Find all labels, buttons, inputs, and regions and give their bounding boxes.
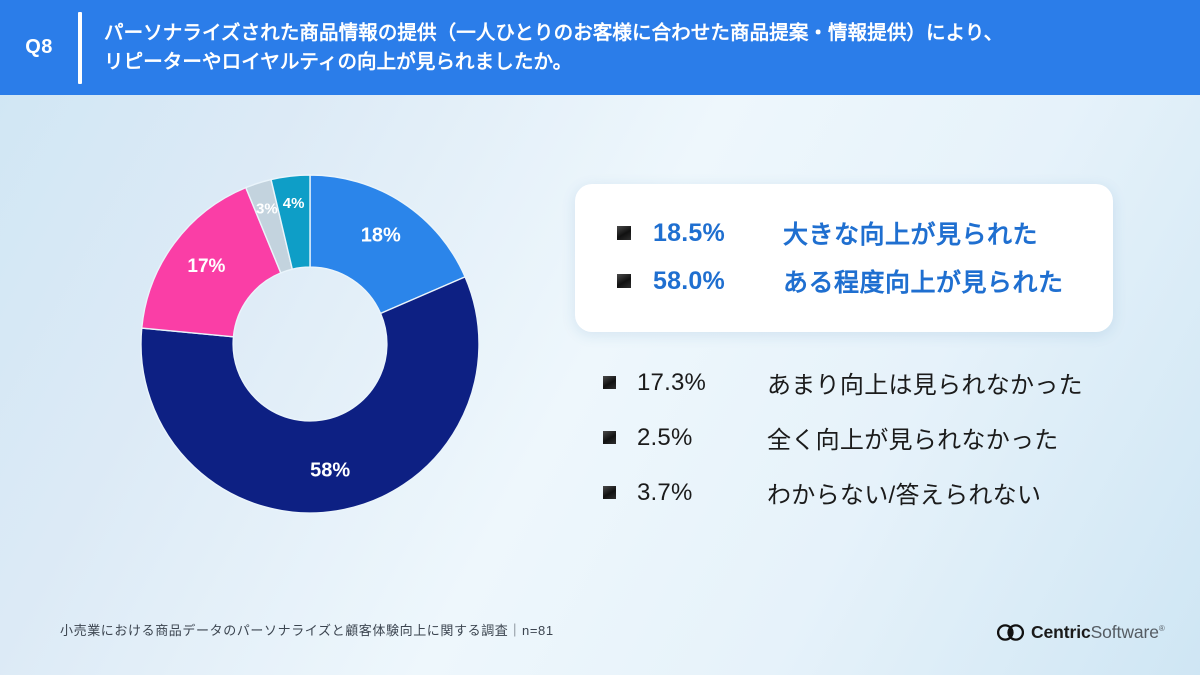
- legend-percent: 2.5%: [637, 424, 767, 452]
- square-bullet-icon: [603, 431, 616, 444]
- centric-software-logo: CentricSoftware®: [997, 622, 1165, 643]
- question-header-bar: Q8 パーソナライズされた商品情報の提供（一人ひとりのお客様に合わせた商品提案・…: [0, 0, 1200, 95]
- legend-secondary-list: 17.3% あまり向上は見られなかった 2.5% 全く向上が見られなかった 3.…: [603, 355, 1143, 520]
- square-bullet-icon: [617, 274, 631, 288]
- square-bullet-icon: [603, 376, 616, 389]
- legend-label: 全く向上が見られなかった: [767, 420, 1059, 455]
- centric-infinity-icon: [997, 624, 1024, 641]
- legend-item-no-improvement[interactable]: 2.5% 全く向上が見られなかった: [603, 410, 1143, 465]
- page-title: パーソナライズされた商品情報の提供（一人ひとりのお客様に合わせた商品提案・情報提…: [104, 19, 1033, 76]
- legend-label: わからない/答えられない: [767, 475, 1041, 510]
- legend-percent: 17.3%: [637, 369, 767, 397]
- legend-percent: 3.7%: [637, 479, 767, 507]
- legend-highlight-card: 18.5% 大きな向上が見られた 58.0% ある程度向上が見られた: [575, 184, 1113, 332]
- source-note: 小売業における商品データのパーソナライズと顧客体験向上に関する調査｜n=81: [60, 620, 554, 639]
- header-divider: [78, 12, 82, 84]
- donut-slice-label: 17%: [187, 256, 225, 277]
- logo-wordmark: CentricSoftware®: [1031, 622, 1165, 643]
- legend-item-some-improvement[interactable]: 58.0% ある程度向上が見られた: [617, 257, 1113, 305]
- square-bullet-icon: [617, 226, 631, 240]
- legend-label: ある程度向上が見られた: [783, 263, 1064, 299]
- donut-slice-label: 58%: [310, 460, 350, 482]
- donut-slice-label: 3%: [256, 201, 278, 218]
- legend-label: あまり向上は見られなかった: [767, 365, 1083, 400]
- logo-text-centric: Centric: [1031, 622, 1091, 642]
- legend-percent: 18.5%: [653, 219, 783, 248]
- logo-registered-mark: ®: [1159, 624, 1165, 633]
- legend-item-dont-know[interactable]: 3.7% わからない/答えられない: [603, 465, 1143, 520]
- legend-item-little-improvement[interactable]: 17.3% あまり向上は見られなかった: [603, 355, 1143, 410]
- donut-chart: 18%58%17%3%4%: [141, 175, 479, 513]
- question-title-line-1: パーソナライズされた商品情報の提供（一人ひとりのお客様に合わせた商品提案・情報提…: [104, 19, 1003, 47]
- question-title-line-2: リピーターやロイヤルティの向上が見られましたか。: [104, 48, 1003, 76]
- logo-text-software: Software: [1091, 622, 1159, 642]
- donut-slice-label: 18%: [361, 225, 401, 247]
- legend-item-large-improvement[interactable]: 18.5% 大きな向上が見られた: [617, 209, 1113, 257]
- question-number-badge: Q8: [0, 36, 78, 59]
- donut-slice-label: 4%: [283, 195, 305, 212]
- square-bullet-icon: [603, 486, 616, 499]
- donut-chart-svg: 18%58%17%3%4%: [141, 175, 479, 513]
- legend-percent: 58.0%: [653, 267, 783, 296]
- legend-label: 大きな向上が見られた: [783, 215, 1038, 251]
